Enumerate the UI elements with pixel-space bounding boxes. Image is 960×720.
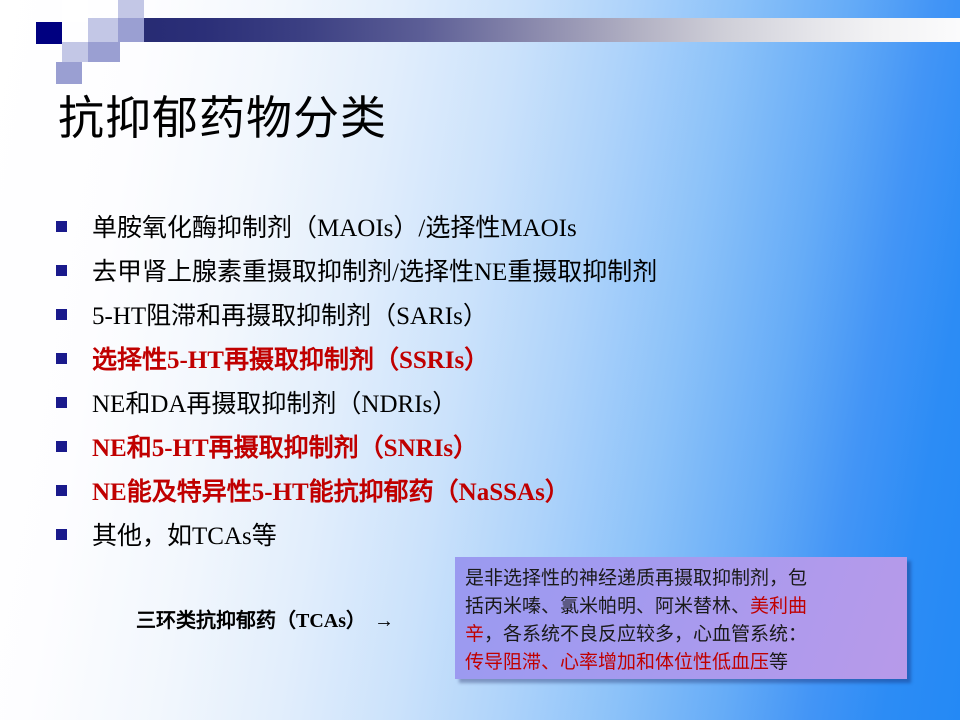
callout-line: 是非选择性的神经递质再摄取抑制剂，包 [465, 564, 897, 592]
bullet-square-icon [56, 485, 67, 496]
header-gradient-bar [120, 18, 960, 42]
callout-text-segment: 括丙米嗪、氯米帕明、阿米替林、 [465, 595, 750, 617]
header-mosaic-square [62, 42, 88, 62]
bullet-item-label: NE和5-HT再摄取抑制剂（SNRIs） [92, 432, 478, 466]
bullet-square-icon [56, 221, 67, 232]
bullet-item: NE能及特异性5-HT能抗抑郁药（NaSSAs） [56, 476, 916, 520]
bullet-square-icon [56, 441, 67, 452]
header-mosaic-square [88, 42, 120, 62]
bullet-item: NE和DA再摄取抑制剂（NDRIs） [56, 388, 916, 432]
bullet-item: NE和5-HT再摄取抑制剂（SNRIs） [56, 432, 916, 476]
header-mosaic-square [88, 18, 118, 42]
header-mosaic-square [56, 62, 82, 84]
header-decoration [0, 0, 960, 62]
callout-line: 括丙米嗪、氯米帕明、阿米替林、美利曲 [465, 592, 897, 620]
callout-text-segment: 美利曲 [750, 595, 807, 617]
header-mosaic-square [36, 22, 62, 44]
arrow-right-icon: → [366, 610, 394, 632]
bullet-item: 5-HT阻滞和再摄取抑制剂（SARIs） [56, 300, 916, 344]
bullet-item-label: NE和DA再摄取抑制剂（NDRIs） [92, 388, 457, 422]
tca-caption-label: 三环类抗抑郁药（TCAs） [136, 610, 366, 632]
bullet-square-icon [56, 309, 67, 320]
header-mosaic-square [118, 18, 144, 42]
callout-box: 是非选择性的神经递质再摄取抑制剂，包括丙米嗪、氯米帕明、阿米替林、美利曲辛，各系… [455, 557, 907, 679]
bullet-item-label: 其他，如TCAs等 [92, 520, 277, 554]
callout-text-segment: 是非选择性的神经递质再摄取抑制剂，包 [465, 567, 807, 589]
bullet-item-label: 选择性5-HT再摄取抑制剂（SSRIs） [92, 344, 489, 378]
bullet-list: 单胺氧化酶抑制剂（MAOIs）/选择性MAOIs去甲肾上腺素重摄取抑制剂/选择性… [56, 212, 916, 564]
callout-text-segment: 传导阻滞、心率增加和体位性低血压 [465, 651, 769, 673]
bullet-item-label: 单胺氧化酶抑制剂（MAOIs）/选择性MAOIs [92, 212, 577, 246]
bullet-item-label: 去甲肾上腺素重摄取抑制剂/选择性NE重摄取抑制剂 [92, 256, 657, 290]
tca-caption: 三环类抗抑郁药（TCAs）→ [136, 604, 394, 633]
bullet-square-icon [56, 353, 67, 364]
bullet-square-icon [56, 397, 67, 408]
bullet-item: 单胺氧化酶抑制剂（MAOIs）/选择性MAOIs [56, 212, 916, 256]
callout-line: 传导阻滞、心率增加和体位性低血压等 [465, 648, 897, 676]
bullet-item: 去甲肾上腺素重摄取抑制剂/选择性NE重摄取抑制剂 [56, 256, 916, 300]
slide-canvas: 抗抑郁药物分类 单胺氧化酶抑制剂（MAOIs）/选择性MAOIs去甲肾上腺素重摄… [0, 0, 960, 720]
callout-text-segment: 等 [769, 651, 788, 673]
bullet-square-icon [56, 265, 67, 276]
bullet-item-label: NE能及特异性5-HT能抗抑郁药（NaSSAs） [92, 476, 570, 510]
callout-text-segment: ，各系统不良反应较多，心血管系统： [484, 623, 807, 645]
bullet-item: 选择性5-HT再摄取抑制剂（SSRIs） [56, 344, 916, 388]
callout-line: 辛，各系统不良反应较多，心血管系统： [465, 620, 897, 648]
bullet-item-label: 5-HT阻滞和再摄取抑制剂（SARIs） [92, 300, 488, 334]
header-mosaic-square [118, 0, 144, 18]
callout-text-segment: 辛 [465, 623, 484, 645]
header-mosaic-square [88, 0, 120, 14]
page-title: 抗抑郁药物分类 [58, 92, 387, 145]
bullet-square-icon [56, 529, 67, 540]
